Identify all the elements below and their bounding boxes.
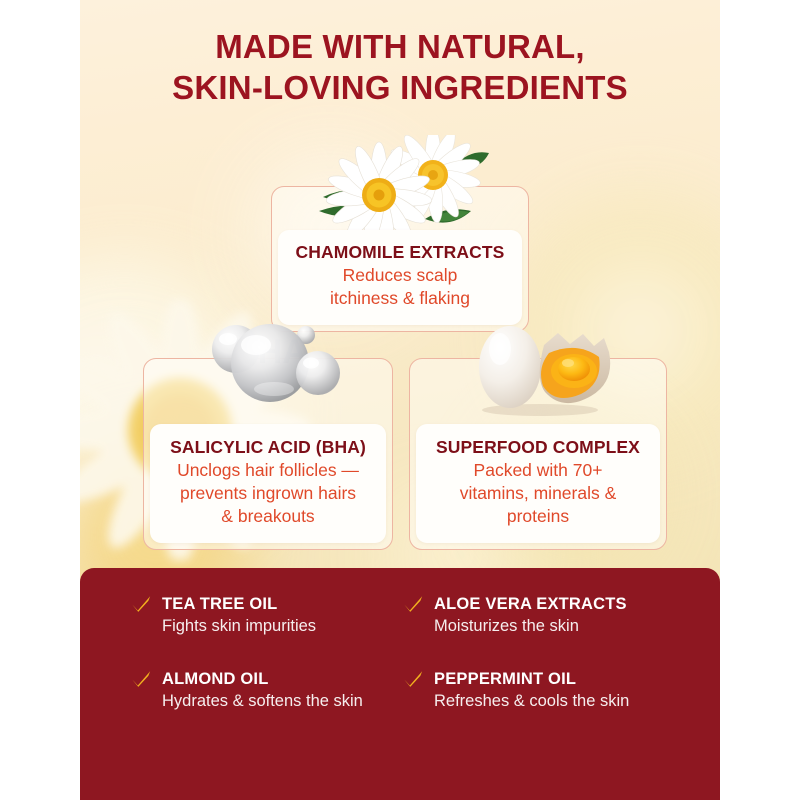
chamomile-desc-line: itchiness & flaking bbox=[288, 287, 512, 310]
ingredient-card-superfood-complex[interactable]: SUPERFOOD COMPLEX Packed with 70+ vitami… bbox=[409, 358, 667, 550]
salicylic-desc-line: prevents ingrown hairs bbox=[160, 482, 376, 505]
page-title-line-1: MADE WITH NATURAL, bbox=[215, 28, 585, 65]
superfood-description: Packed with 70+ vitamins, minerals & pro… bbox=[426, 459, 650, 528]
check-icon bbox=[402, 669, 424, 691]
ingredient-card-salicylic-acid[interactable]: BHA SALICYLIC ACID (BHA) Unclogs hair fo… bbox=[143, 358, 393, 550]
chamomile-desc-line: Reduces scalp bbox=[288, 264, 512, 287]
benefit-item-almond-oil[interactable]: ALMOND OIL Hydrates & softens the skin bbox=[130, 669, 392, 712]
benefit-item-aloe-vera-extracts[interactable]: ALOE VERA EXTRACTS Moisturizes the skin bbox=[402, 594, 698, 637]
benefit-title: ALOE VERA EXTRACTS bbox=[434, 594, 698, 615]
page-title-line-2: SKIN-LOVING INGREDIENTS bbox=[80, 67, 720, 108]
benefit-description: Refreshes & cools the skin bbox=[434, 690, 698, 712]
benefits-panel: TEA TREE OIL Fights skin impurities ALOE… bbox=[80, 568, 720, 800]
salicylic-desc-line: & breakouts bbox=[160, 505, 376, 528]
benefit-description: Fights skin impurities bbox=[162, 615, 392, 637]
superfood-desc-line: proteins bbox=[426, 505, 650, 528]
benefit-title: ALMOND OIL bbox=[162, 669, 392, 690]
page-title: MADE WITH NATURAL, SKIN-LOVING INGREDIEN… bbox=[80, 26, 720, 108]
chamomile-description: Reduces scalp itchiness & flaking bbox=[288, 264, 512, 310]
salicylic-desc-line: Unclogs hair follicles — bbox=[160, 459, 376, 482]
chamomile-text-panel: CHAMOMILE EXTRACTS Reduces scalp itchine… bbox=[278, 230, 522, 325]
ingredients-infographic: MADE WITH NATURAL, SKIN-LOVING INGREDIEN… bbox=[0, 0, 800, 800]
benefit-description: Hydrates & softens the skin bbox=[162, 690, 392, 712]
benefit-title: TEA TREE OIL bbox=[162, 594, 392, 615]
benefit-item-peppermint-oil[interactable]: PEPPERMINT OIL Refreshes & cools the ski… bbox=[402, 669, 698, 712]
superfood-title: SUPERFOOD COMPLEX bbox=[426, 437, 650, 458]
benefit-description: Moisturizes the skin bbox=[434, 615, 698, 637]
check-icon bbox=[130, 669, 152, 691]
superfood-desc-line: Packed with 70+ bbox=[426, 459, 650, 482]
superfood-desc-line: vitamins, minerals & bbox=[426, 482, 650, 505]
salicylic-text-panel: SALICYLIC ACID (BHA) Unclogs hair follic… bbox=[150, 424, 386, 543]
chamomile-title: CHAMOMILE EXTRACTS bbox=[288, 242, 512, 263]
benefit-item-tea-tree-oil[interactable]: TEA TREE OIL Fights skin impurities bbox=[130, 594, 392, 637]
benefit-title: PEPPERMINT OIL bbox=[434, 669, 698, 690]
salicylic-description: Unclogs hair follicles — prevents ingrow… bbox=[160, 459, 376, 528]
ingredient-card-chamomile[interactable]: CHAMOMILE EXTRACTS Reduces scalp itchine… bbox=[271, 186, 529, 332]
superfood-text-panel: SUPERFOOD COMPLEX Packed with 70+ vitami… bbox=[416, 424, 660, 543]
check-icon bbox=[402, 594, 424, 616]
check-icon bbox=[130, 594, 152, 616]
salicylic-title: SALICYLIC ACID (BHA) bbox=[160, 437, 376, 458]
